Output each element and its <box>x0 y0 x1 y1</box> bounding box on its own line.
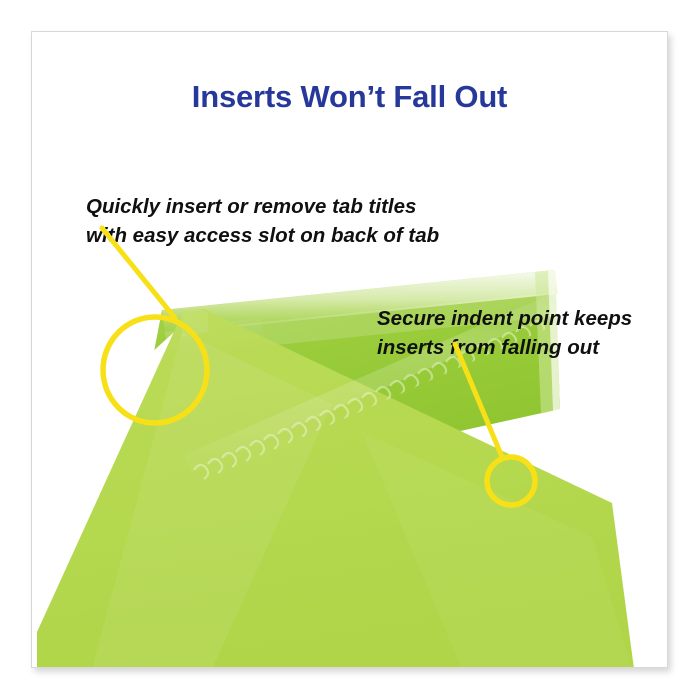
product-feature-figure: Inserts Won’t Fall Out Quickly insert or… <box>0 0 700 700</box>
callout-caption-access-slot: Quickly insert or remove tab titles with… <box>86 192 439 250</box>
callout-caption-line-2: with easy access slot on back of tab <box>86 221 439 250</box>
callout-caption-line-2: inserts from falling out <box>377 333 632 362</box>
page-title: Inserts Won’t Fall Out <box>32 80 667 115</box>
image-card-frame: Inserts Won’t Fall Out Quickly insert or… <box>31 31 668 668</box>
callout-caption-line-1: Quickly insert or remove tab titles <box>86 192 439 221</box>
callout-caption-indent-point: Secure indent point keeps inserts from f… <box>377 304 632 362</box>
callout-caption-line-1: Secure indent point keeps <box>377 304 632 333</box>
